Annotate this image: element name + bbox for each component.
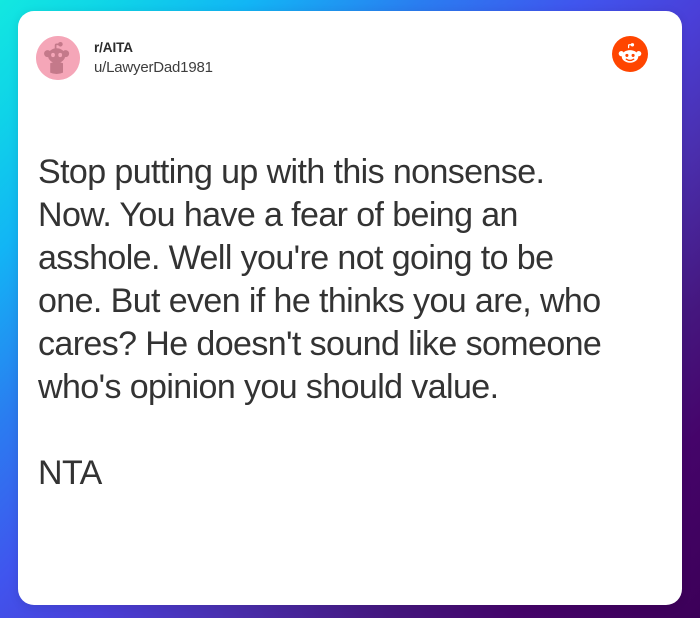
gradient-backdrop: r/AITA u/LawyerDad1981 [0,0,700,618]
snoo-avatar-icon[interactable] [36,36,80,80]
post-paragraph: Stop putting up with this nonsense. Now.… [38,151,670,409]
post-author-block: r/AITA u/LawyerDad1981 [94,39,213,76]
subreddit-name[interactable]: r/AITA [94,39,213,56]
post-body: Stop putting up with this nonsense. Now.… [38,151,670,495]
post-header: r/AITA u/LawyerDad1981 [36,34,664,82]
reddit-post-card: r/AITA u/LawyerDad1981 [18,11,682,605]
reddit-logo-icon[interactable] [612,36,648,72]
post-verdict: NTA [38,452,670,495]
username[interactable]: u/LawyerDad1981 [94,58,213,77]
